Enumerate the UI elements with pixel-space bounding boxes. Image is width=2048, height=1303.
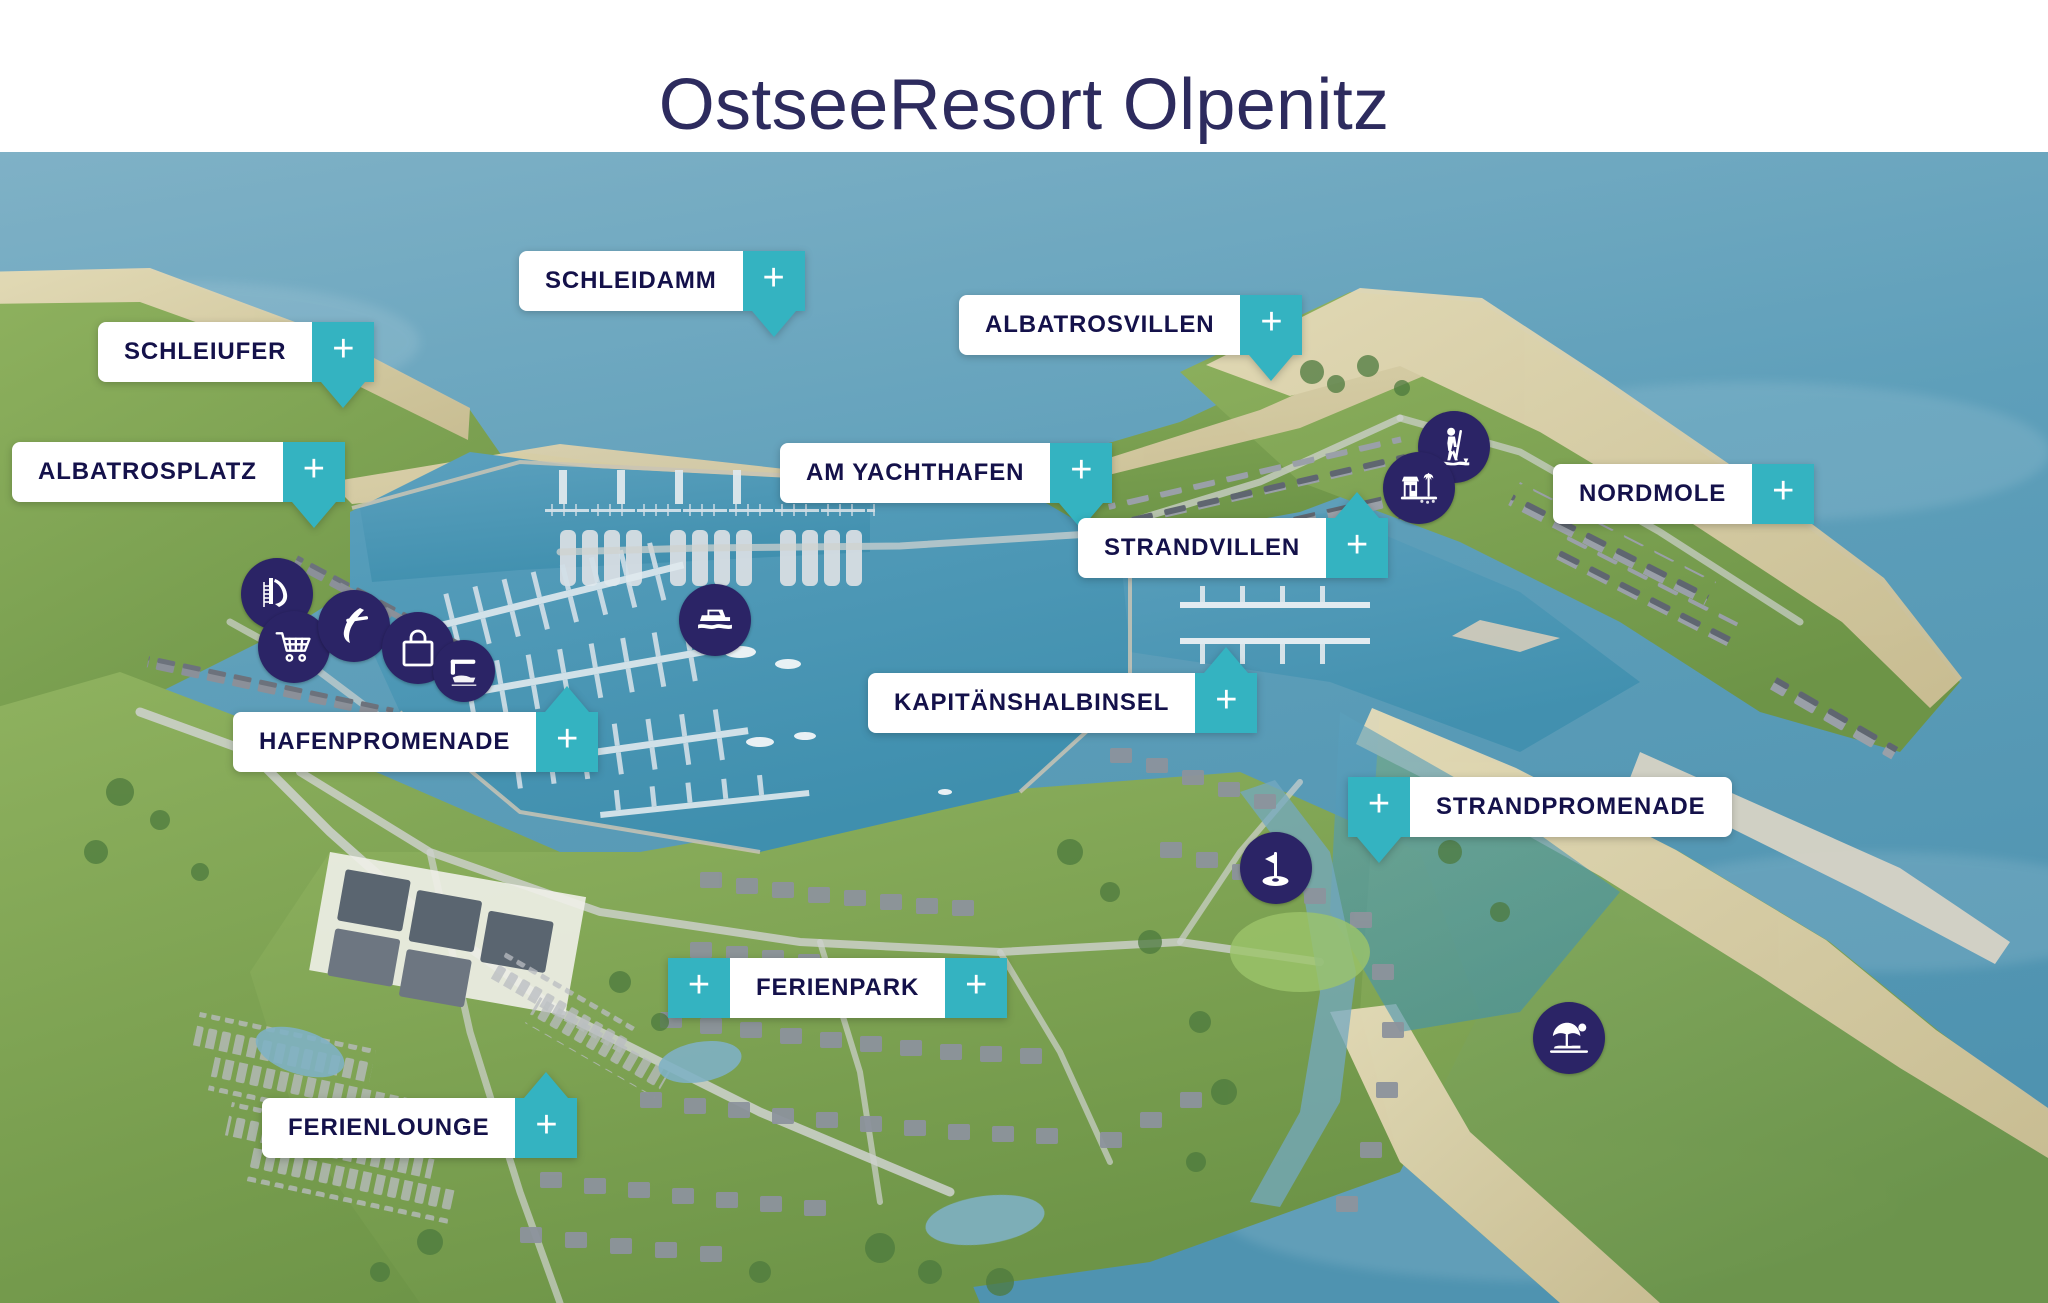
plus-icon: + [303,450,325,488]
map-label-albatrosvillen[interactable]: ALBATROSVILLEN + [959,295,1302,355]
plus-icon: + [1346,526,1368,564]
map-label-nordmole-text: NORDMOLE [1553,464,1752,524]
map-label-strandpromenade[interactable]: + STRANDPROMENADE [1348,777,1732,837]
sail-f-logo-icon[interactable] [318,590,390,662]
map-label-albatrosplatz[interactable]: ALBATROSPLATZ + [12,442,345,502]
map-label-strandvillen-text: STRANDVILLEN [1078,518,1326,578]
map-label-nordmole[interactable]: NORDMOLE + [1553,464,1814,524]
plus-icon: + [1772,472,1794,510]
plus-icon: + [763,259,785,297]
map-label-schleidamm-plus-button[interactable]: + [743,251,805,311]
map-label-kapitaenshalbinsel[interactable]: KAPITÄNSHALBINSEL + [868,673,1257,733]
map-label-albatrosplatz-plus-button[interactable]: + [283,442,345,502]
map-label-hafenpromenade[interactable]: HAFENPROMENADE + [233,712,598,772]
map-label-schleidamm-text: SCHLEIDAMM [519,251,743,311]
plus-icon: + [1260,303,1282,341]
map-label-strandvillen[interactable]: STRANDVILLEN + [1078,518,1388,578]
map-label-schleiufer-plus-button[interactable]: + [312,322,374,382]
map-label-albatrosvillen-text: ALBATROSVILLEN [959,295,1240,355]
golf-flag-icon[interactable] [1240,832,1312,904]
map-label-ferienpark-text: FERIENPARK [730,958,945,1018]
plus-icon: + [688,966,710,1004]
map-label-hafenpromenade-text: HAFENPROMENADE [233,712,536,772]
map-label-ferienlounge-plus-button[interactable]: + [515,1098,577,1158]
map-label-am-yachthafen[interactable]: AM YACHTHAFEN + [780,443,1112,503]
map-label-albatrosplatz-text: ALBATROSPLATZ [12,442,283,502]
map-label-strandpromenade-plus-button[interactable]: + [1348,777,1410,837]
map-label-ferienlounge[interactable]: FERIENLOUNGE + [262,1098,577,1158]
map-label-kapitaenshalbinsel-text: KAPITÄNSHALBINSEL [868,673,1195,733]
page-title: OstseeResort Olpenitz [0,64,2048,147]
plus-icon: + [556,720,578,758]
plus-icon: + [1368,785,1390,823]
boat-ramp-icon[interactable] [433,640,495,702]
map-label-ferienpark-plus-button-right[interactable]: + [945,958,1007,1018]
map-label-schleiufer-text: SCHLEIUFER [98,322,312,382]
map-label-kapitaenshalbinsel-plus-button[interactable]: + [1195,673,1257,733]
plus-icon: + [1215,681,1237,719]
map-label-strandpromenade-text: STRANDPROMENADE [1410,777,1732,837]
map-label-hafenpromenade-plus-button[interactable]: + [536,712,598,772]
plus-icon: + [1070,451,1092,489]
plus-icon: + [535,1106,557,1144]
map-label-strandvillen-plus-button[interactable]: + [1326,518,1388,578]
map-label-albatrosvillen-plus-button[interactable]: + [1240,295,1302,355]
map-label-ferienpark-plus-button-left[interactable]: + [668,958,730,1018]
map-label-ferienlounge-text: FERIENLOUNGE [262,1098,515,1158]
map-label-am-yachthafen-plus-button[interactable]: + [1050,443,1112,503]
beach-umbrella-icon[interactable] [1533,1002,1605,1074]
map-label-schleidamm[interactable]: SCHLEIDAMM + [519,251,805,311]
plus-icon: + [965,966,987,1004]
map-label-ferienpark[interactable]: + FERIENPARK + [668,958,1007,1018]
map-label-am-yachthafen-text: AM YACHTHAFEN [780,443,1050,503]
map-label-nordmole-plus-button[interactable]: + [1752,464,1814,524]
page-root: OstseeResort Olpenitz [0,0,2048,1303]
beach-market-icon[interactable] [1383,452,1455,524]
motorboat-icon[interactable] [679,584,751,656]
resort-map[interactable]: SCHLEIDAMM + SCHLEIUFER + ALBATROSVILLEN… [0,152,2048,1303]
plus-icon: + [332,330,354,368]
map-label-schleiufer[interactable]: SCHLEIUFER + [98,322,374,382]
